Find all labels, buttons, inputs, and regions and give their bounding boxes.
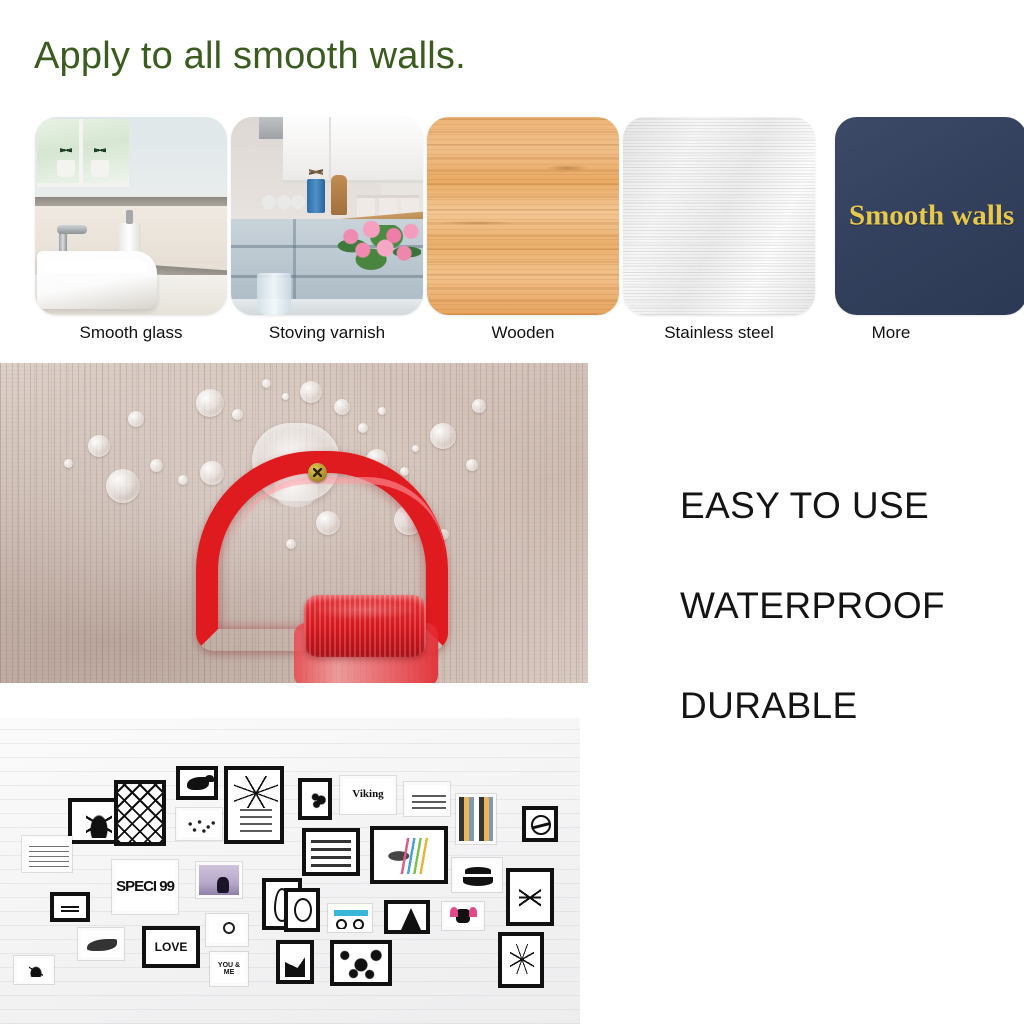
water-droplet: [88, 435, 110, 457]
picture-frame: [456, 794, 496, 844]
water-droplet: [466, 459, 478, 471]
surface-tile-wooden[interactable]: Wooden: [427, 117, 623, 352]
frame-caption: YOU & ME: [213, 955, 245, 983]
frame-caption: SPECI 99: [115, 863, 175, 911]
surface-tile-label: More: [795, 320, 987, 346]
water-droplet: [430, 423, 456, 449]
water-droplet: [358, 423, 368, 433]
water-droplet: [282, 393, 289, 400]
water-droplet: [178, 475, 188, 485]
hero-product-photo: [0, 363, 588, 683]
screw-icon: [308, 463, 327, 482]
feature-item: WATERPROOF: [680, 584, 1024, 628]
picture-frame: [442, 902, 484, 930]
surface-tile-label: Stainless steel: [623, 320, 815, 346]
picture-frame: YOU & ME: [210, 952, 248, 986]
wood-grain-swatch: [427, 117, 619, 315]
picture-frame: [276, 940, 314, 984]
picture-frame: [330, 940, 392, 986]
water-droplet: [334, 399, 350, 415]
picture-frame: [78, 928, 124, 960]
picture-frame: [328, 904, 372, 932]
red-bottle-cap: [286, 595, 446, 683]
picture-frame: [196, 862, 242, 898]
picture-frame: [498, 932, 544, 988]
water-droplet: [64, 459, 73, 468]
water-droplet: [196, 389, 224, 417]
water-droplet: [472, 399, 486, 413]
picture-frame: [370, 826, 448, 884]
gallery-wall-photo: SPECI 99 LOVE YOU & ME: [0, 718, 580, 1024]
picture-frame: [284, 888, 320, 932]
picture-frame: [224, 766, 284, 844]
picture-frame: [452, 858, 502, 892]
picture-frame: LOVE: [142, 926, 200, 968]
picture-frame: [50, 892, 90, 922]
picture-frame: [176, 808, 222, 840]
kitchen-photo: [231, 117, 423, 315]
water-droplet: [128, 411, 144, 427]
picture-frame: [384, 900, 430, 934]
picture-frame: [22, 836, 72, 872]
navy-card-text: Smooth walls: [849, 200, 1014, 233]
picture-frame: Viking: [340, 776, 396, 814]
water-droplet: [106, 469, 140, 503]
picture-frame: SPECI 99: [112, 860, 178, 914]
surface-tile-label: Stoving varnish: [231, 320, 423, 346]
feature-list: EASY TO USE WATERPROOF DURABLE: [680, 484, 1024, 728]
surface-tile-smooth-glass[interactable]: Smooth glass: [35, 117, 231, 352]
surface-tile-row: Smooth glass Stoving varnish: [0, 117, 1024, 352]
picture-frame: [14, 956, 54, 984]
frame-caption: Viking: [343, 779, 393, 811]
feature-item: DURABLE: [680, 684, 1024, 728]
picture-frame: [176, 766, 218, 800]
surface-tile-stoving-varnish[interactable]: Stoving varnish: [231, 117, 427, 352]
water-droplet: [378, 407, 386, 415]
feature-item: EASY TO USE: [680, 484, 1024, 528]
infographic-page: Apply to all smooth walls. Smooth glass: [0, 0, 1024, 1024]
bathroom-photo: [35, 117, 227, 315]
picture-frame: [506, 868, 554, 926]
water-droplet: [262, 379, 271, 388]
picture-frame: [206, 914, 248, 946]
surface-tile-label: Wooden: [427, 320, 619, 346]
water-droplet: [232, 409, 243, 420]
frame-caption: LOVE: [146, 930, 196, 964]
water-droplet: [150, 459, 163, 472]
surface-tile-stainless-steel[interactable]: Stainless steel: [623, 117, 819, 352]
page-title: Apply to all smooth walls.: [34, 30, 466, 82]
picture-frame: [298, 778, 332, 820]
navy-card: Smooth walls: [835, 117, 1024, 315]
picture-frame: [404, 782, 450, 816]
water-droplet: [300, 381, 322, 403]
picture-frame: [302, 828, 360, 876]
surface-tile-more[interactable]: Smooth walls More: [835, 117, 1024, 352]
picture-frame: [522, 806, 558, 842]
picture-frame: [114, 780, 166, 846]
brushed-metal-swatch: [623, 117, 815, 315]
surface-tile-label: Smooth glass: [35, 320, 227, 346]
